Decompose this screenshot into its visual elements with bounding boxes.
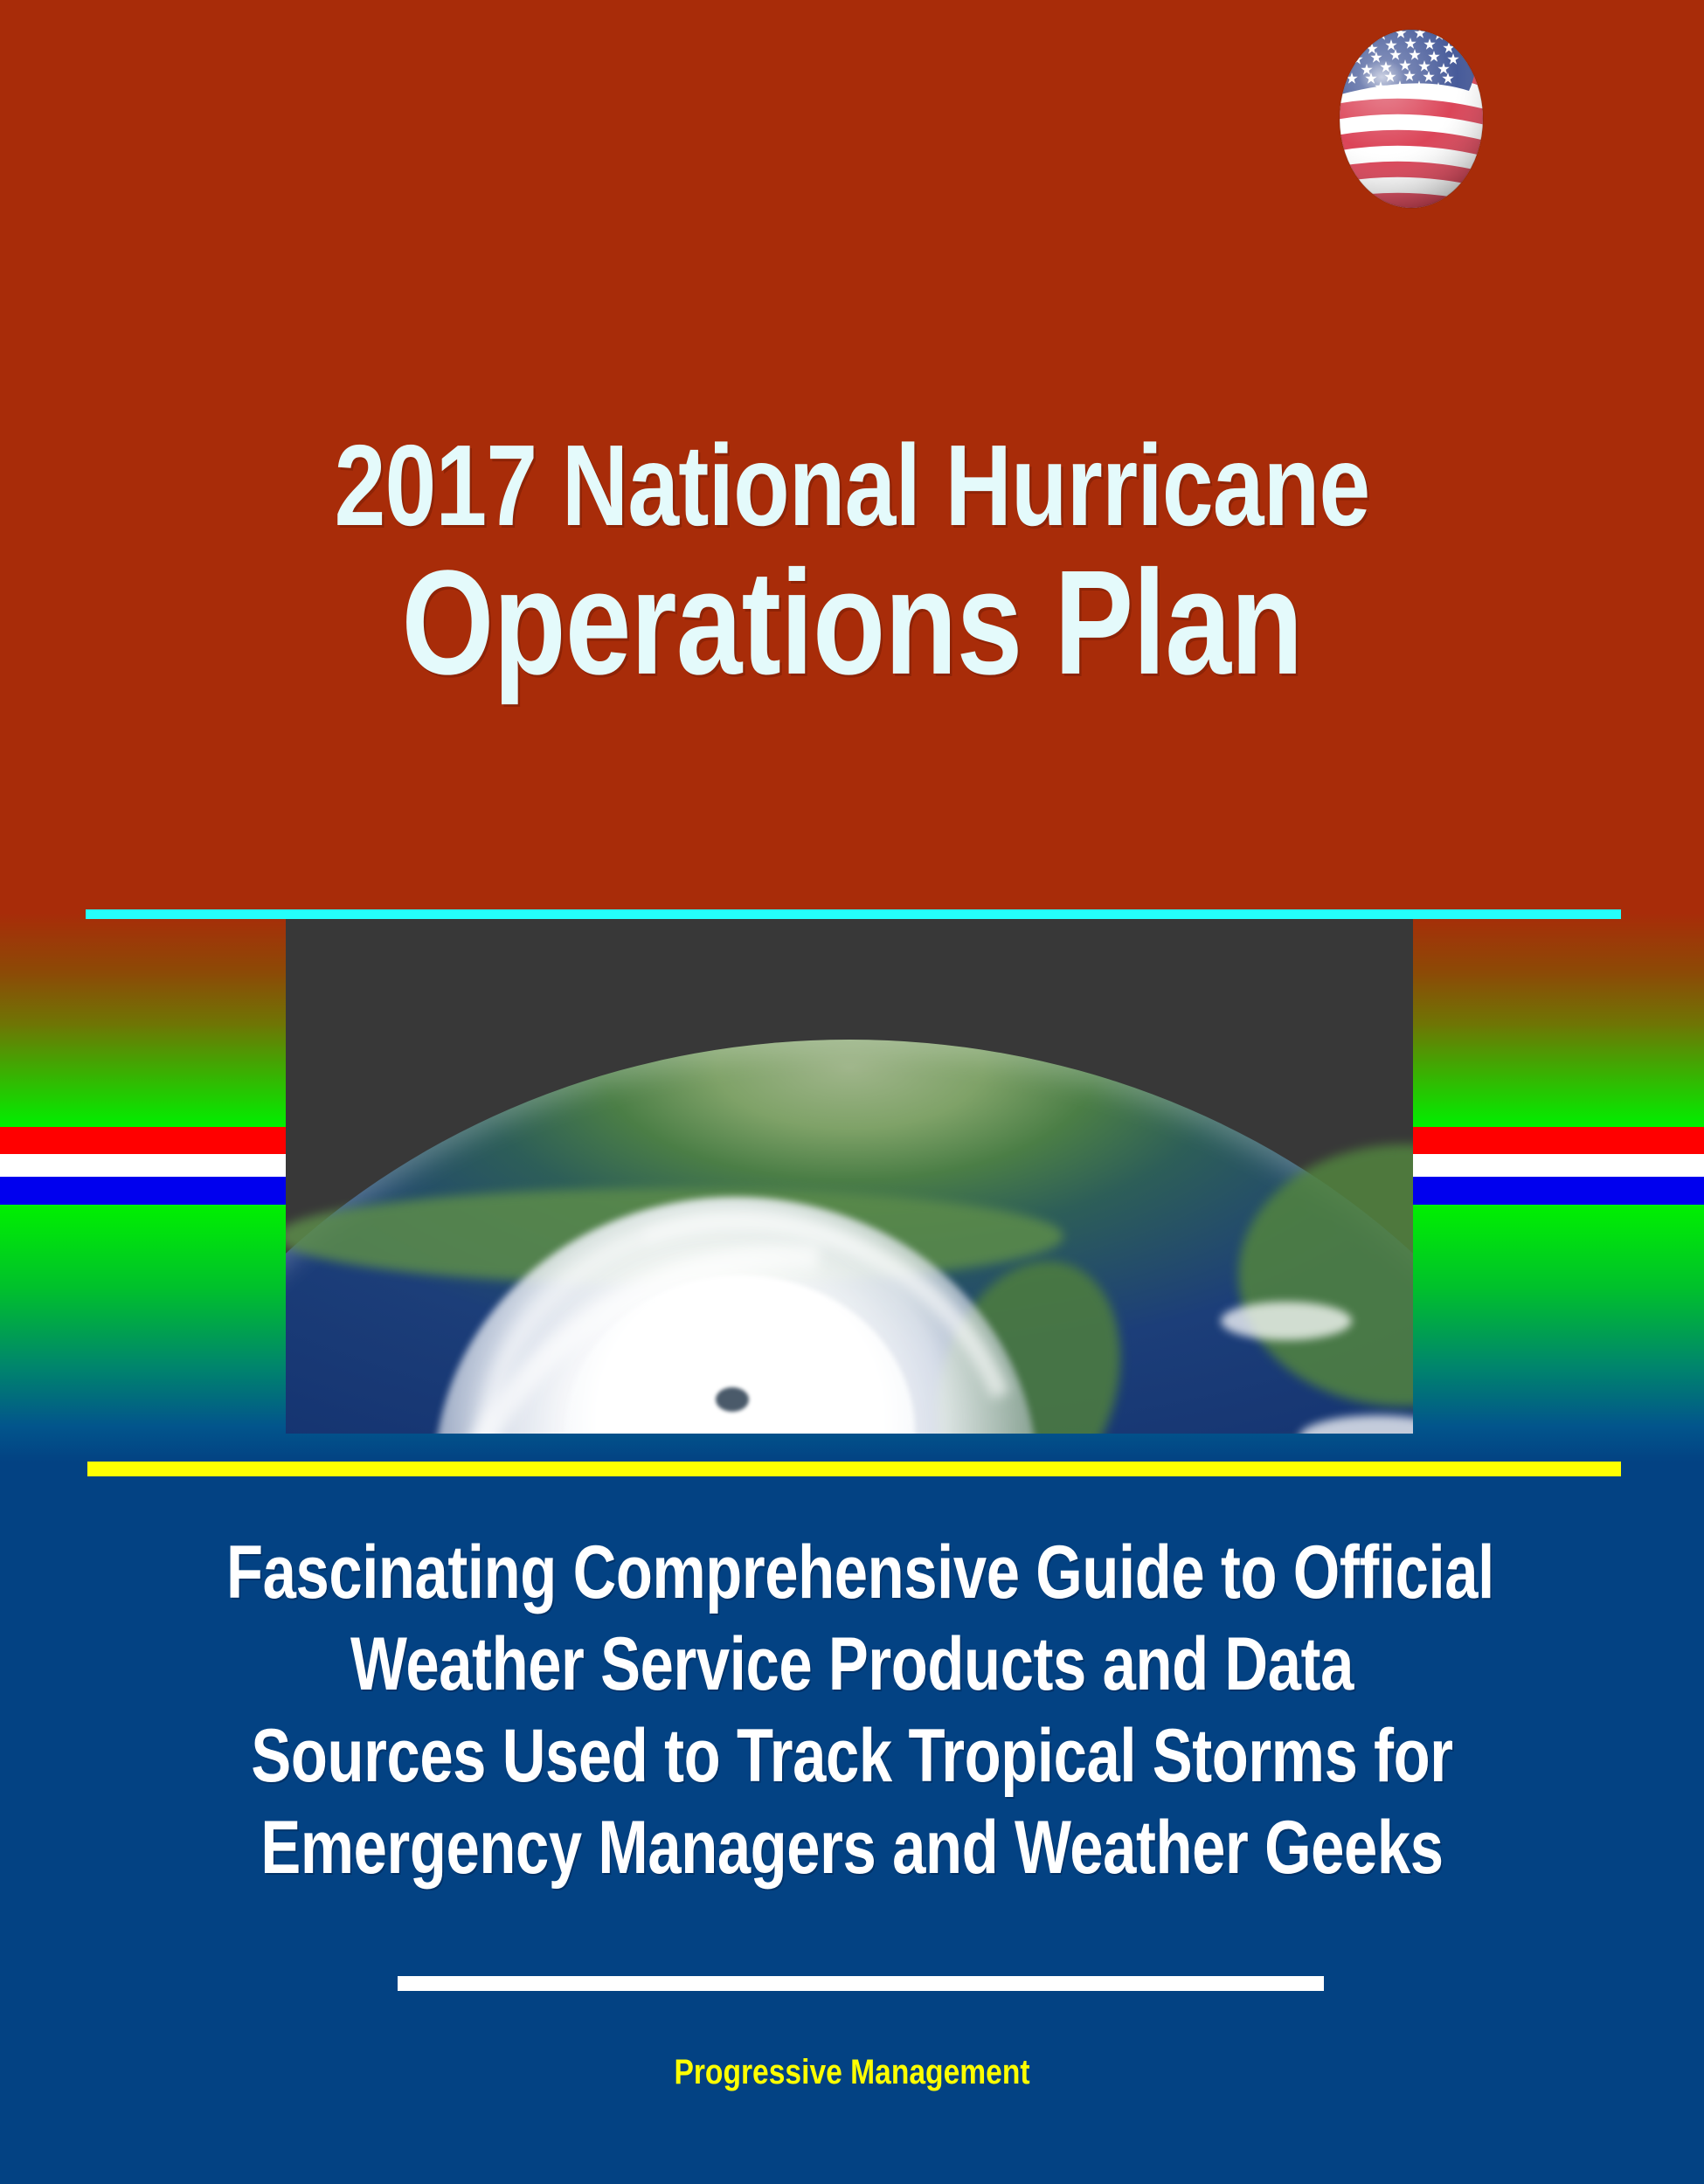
publisher-name: Progressive Management — [136, 2053, 1568, 2092]
photo-storm-eye — [716, 1387, 749, 1412]
divider-rule-yellow — [87, 1462, 1621, 1476]
title-line-2: Operations Plan — [233, 549, 1471, 697]
subtitle-line-4: Emergency Managers and Weather Geeks — [226, 1802, 1478, 1894]
photo-hurricane-storm — [434, 1197, 1037, 1434]
american-flag-orb-icon — [1322, 26, 1501, 211]
photo-cloudlet — [1299, 1415, 1413, 1434]
photo-landmass-east — [1238, 1144, 1413, 1406]
cover-title: 2017 National Hurricane Operations Plan — [0, 428, 1704, 697]
hurricane-satellite-image — [286, 917, 1413, 1434]
subtitle-line-3: Sources Used to Track Tropical Storms fo… — [226, 1711, 1478, 1802]
photo-cloudlet — [1221, 1302, 1352, 1340]
divider-rule-white — [398, 1976, 1324, 1991]
title-line-1: 2017 National Hurricane — [233, 428, 1471, 543]
subtitle-line-2: Weather Service Products and Data — [226, 1619, 1478, 1711]
book-cover: 2017 National Hurricane Operations Plan — [0, 0, 1704, 2184]
cover-subtitle: Fascinating Comprehensive Guide to Offic… — [0, 1527, 1704, 1894]
divider-rule-cyan — [86, 909, 1621, 919]
subtitle-line-1: Fascinating Comprehensive Guide to Offic… — [226, 1527, 1478, 1619]
